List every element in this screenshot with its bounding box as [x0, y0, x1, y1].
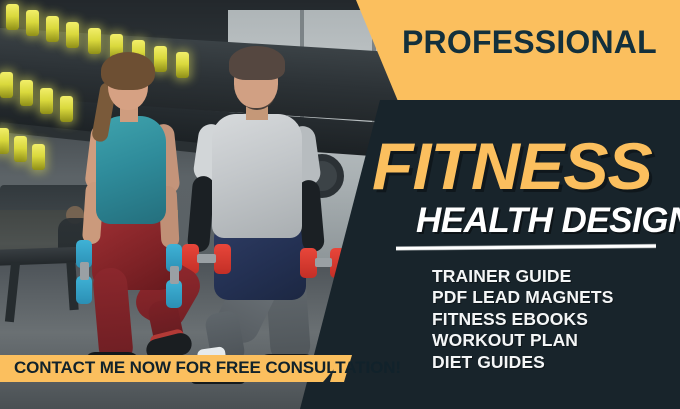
list-item: DIET GUIDES	[432, 352, 672, 373]
kicker-professional: PROFESSIONAL	[402, 26, 664, 58]
services-list: TRAINER GUIDE PDF LEAD MAGNETS FITNESS E…	[432, 266, 672, 373]
list-item: PDF LEAD MAGNETS	[432, 287, 672, 308]
dumbbell-bar	[197, 254, 216, 263]
dumbbell-bar	[170, 266, 179, 284]
page-subtitle: HEALTH DESIGN	[416, 203, 678, 238]
dumbbell-blue	[76, 276, 92, 304]
dumbbell-red	[214, 244, 231, 274]
dumbbell-bar	[80, 262, 89, 280]
dumbbell-blue	[166, 280, 182, 308]
fitness-promo-banner: PROFESSIONAL FITNESS HEALTH DESIGN TRAIN…	[0, 0, 680, 409]
list-item: WORKOUT PLAN	[432, 330, 672, 351]
page-title: FITNESS	[372, 133, 680, 199]
dumbbell-bar	[315, 258, 332, 267]
list-item: TRAINER GUIDE	[432, 266, 672, 287]
cta-banner-label[interactable]: CONTACT ME NOW FOR FREE CONSULTATION!	[14, 358, 334, 378]
list-item: FITNESS EBOOKS	[432, 309, 672, 330]
